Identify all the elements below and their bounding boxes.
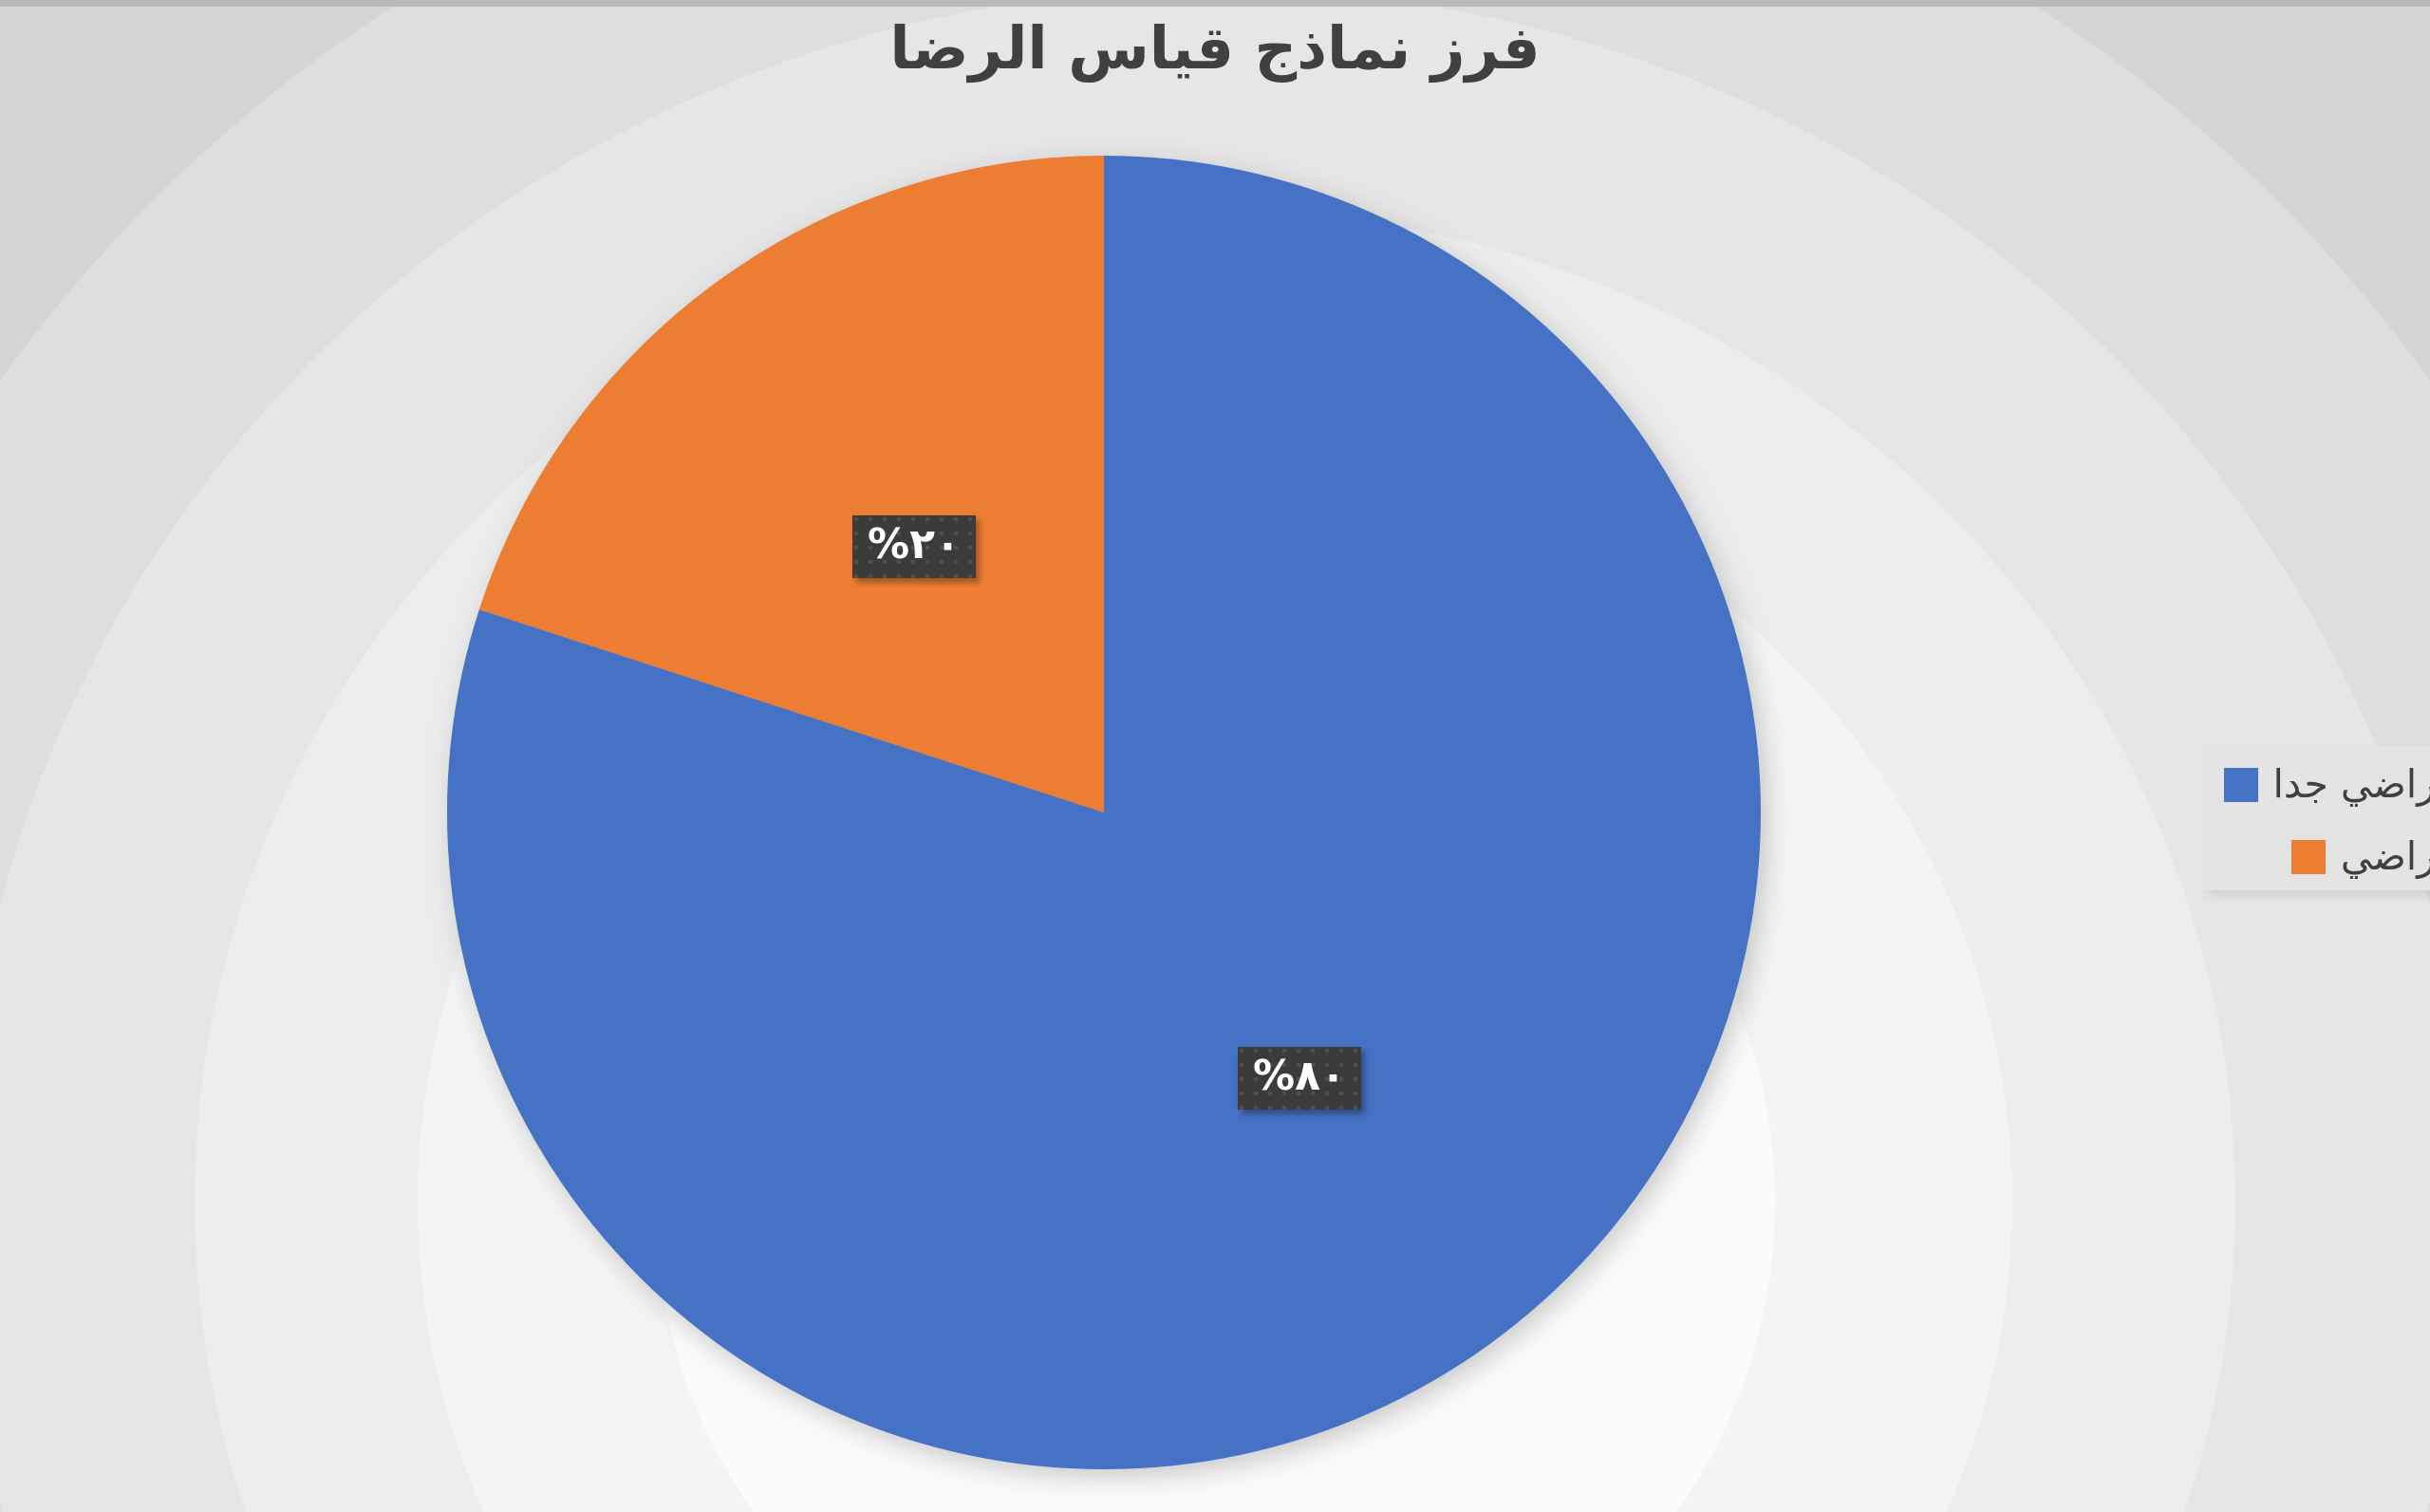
pie-chart-plot-area [447, 156, 1761, 1469]
pie-chart-svg [447, 156, 1761, 1469]
data-label-satisfied: %٢٠ [852, 515, 976, 578]
legend-label-satisfied: راضي [2341, 835, 2430, 878]
chart-title: فرز نماذج قياس الرضا [0, 11, 2430, 85]
legend-label-very-satisfied: راضي جدا [2273, 763, 2430, 806]
legend-swatch-blue-icon [2224, 768, 2258, 802]
legend-item-very-satisfied[interactable]: راضي جدا [2224, 763, 2430, 806]
data-label-very-satisfied: %٨٠ [1238, 1047, 1361, 1110]
legend-item-satisfied[interactable]: راضي [2291, 835, 2430, 878]
slide-canvas: فرز نماذج قياس الرضا %٢٠ %٨٠ راضي جدا [0, 0, 2430, 1512]
chart-legend: راضي جدا راضي [2204, 746, 2430, 890]
top-edge-strip [0, 0, 2430, 7]
legend-swatch-orange-icon [2291, 840, 2326, 874]
